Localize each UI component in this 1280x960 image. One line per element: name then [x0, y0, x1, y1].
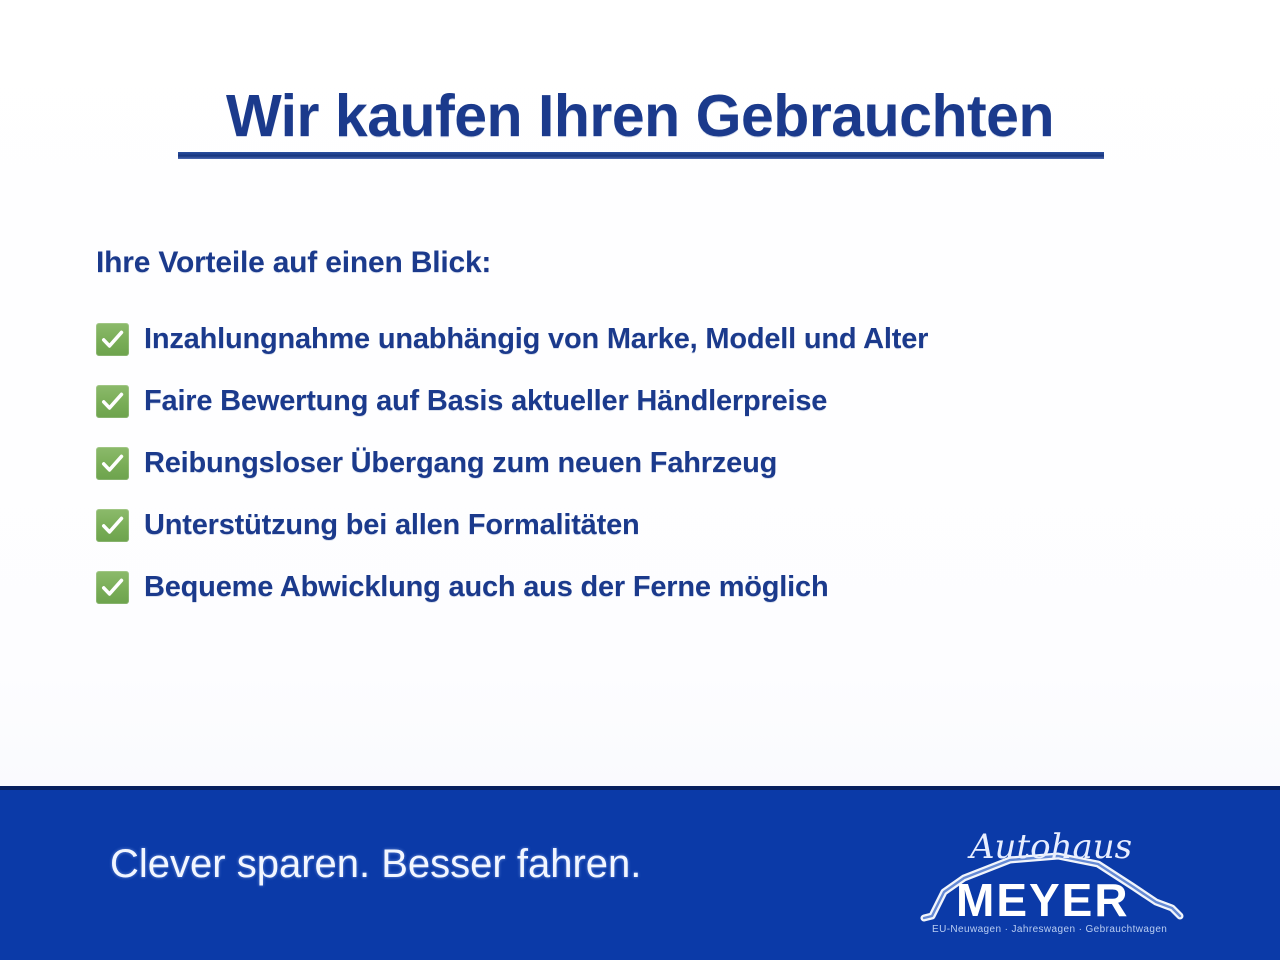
headline-container: Wir kaufen Ihren Gebrauchten: [0, 86, 1280, 148]
green-check-icon: [96, 509, 129, 542]
logo-script-text: Autohaus: [967, 827, 1132, 867]
logo-brand-text: MEYER: [956, 874, 1130, 926]
list-item: Unterstützung bei allen Formalitäten: [96, 494, 1216, 556]
footer-banner-inner: Clever sparen. Besser fahren. Autohaus M…: [0, 790, 1280, 960]
promo-page: Wir kaufen Ihren Gebrauchten Ihre Vortei…: [0, 0, 1280, 960]
list-item-label: Reibungsloser Übergang zum neuen Fahrzeu…: [144, 447, 777, 480]
green-check-icon: [96, 571, 129, 604]
list-item: Bequeme Abwicklung auch aus der Ferne mö…: [96, 556, 1216, 618]
title-underline: [178, 152, 1104, 159]
list-item-label: Faire Bewertung auf Basis aktueller Händ…: [144, 385, 827, 418]
green-check-icon: [96, 323, 129, 356]
dealer-logo: Autohaus MEYER EU-Neuwagen · Jahreswagen…: [918, 812, 1186, 940]
footer-banner: Clever sparen. Besser fahren. Autohaus M…: [0, 786, 1280, 960]
page-title: Wir kaufen Ihren Gebrauchten: [226, 86, 1054, 148]
list-item: Inzahlungnahme unabhängig von Marke, Mod…: [96, 308, 1216, 370]
footer-slogan: Clever sparen. Besser fahren.: [110, 842, 641, 887]
list-item: Faire Bewertung auf Basis aktueller Händ…: [96, 370, 1216, 432]
logo-tagline-text: EU-Neuwagen · Jahreswagen · Gebrauchtwag…: [932, 924, 1167, 935]
list-item-label: Inzahlungnahme unabhängig von Marke, Mod…: [144, 323, 928, 356]
green-check-icon: [96, 385, 129, 418]
list-item-label: Unterstützung bei allen Formalitäten: [144, 509, 640, 542]
list-item-label: Bequeme Abwicklung auch aus der Ferne mö…: [144, 571, 828, 604]
benefits-list: Inzahlungnahme unabhängig von Marke, Mod…: [96, 308, 1216, 618]
benefits-subheading: Ihre Vorteile auf einen Blick:: [96, 246, 491, 280]
list-item: Reibungsloser Übergang zum neuen Fahrzeu…: [96, 432, 1216, 494]
green-check-icon: [96, 447, 129, 480]
